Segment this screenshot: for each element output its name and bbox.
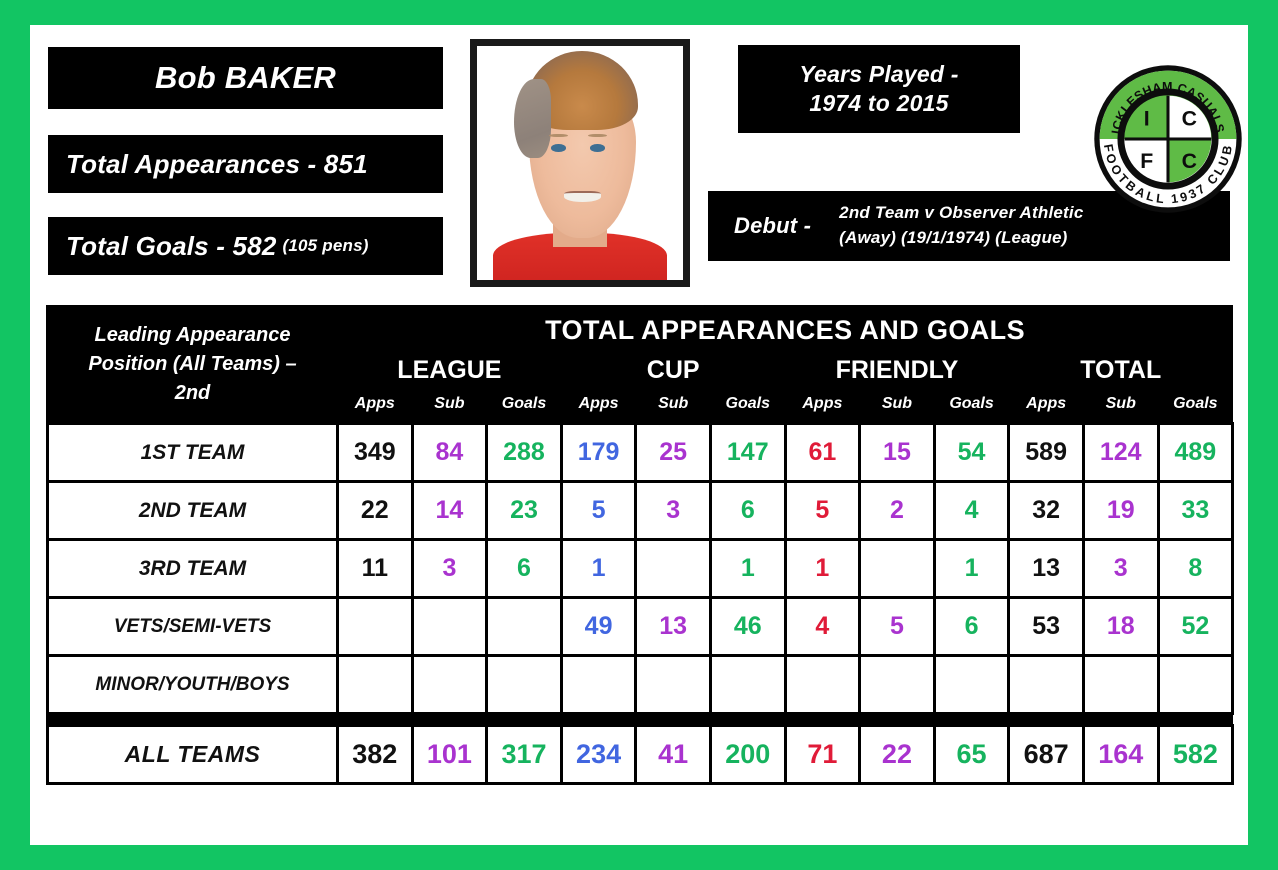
stat-cell: 288 — [487, 424, 562, 482]
stat-cell — [860, 656, 935, 714]
team-name-cell: 3RD TEAM — [48, 540, 338, 598]
years-played-line2: 1974 to 2015 — [809, 89, 948, 118]
stat-cell: 71 — [785, 726, 860, 784]
group-header-friendly: FRIENDLY — [785, 350, 1009, 389]
stat-cell: 4 — [934, 482, 1009, 540]
badge-letter-f: F — [1140, 149, 1153, 173]
stats-table-container: Leading Appearance Position (All Teams) … — [46, 305, 1232, 785]
stat-cell: 101 — [412, 726, 487, 784]
team-name-cell: VETS/SEMI-VETS — [48, 598, 338, 656]
stat-cell: 164 — [1083, 726, 1158, 784]
table-separator — [48, 714, 1233, 726]
stat-cell: 25 — [636, 424, 711, 482]
group-header-league: LEAGUE — [338, 350, 562, 389]
subheader-league-sub: Sub — [412, 389, 487, 424]
leading-position-line1: Leading Appearance — [54, 321, 332, 350]
stat-cell — [710, 656, 785, 714]
stat-cell — [338, 656, 413, 714]
stat-cell: 1 — [561, 540, 636, 598]
player-name: Bob BAKER — [155, 60, 336, 96]
stat-cell: 147 — [710, 424, 785, 482]
photo-eye-left — [551, 144, 565, 151]
stat-cell: 6 — [487, 540, 562, 598]
stat-cell: 6 — [710, 482, 785, 540]
team-name-cell: 2ND TEAM — [48, 482, 338, 540]
table-total-row: ALL TEAMS3821013172344120071226568716458… — [48, 726, 1233, 784]
stat-cell — [1009, 656, 1084, 714]
stat-cell: 49 — [561, 598, 636, 656]
photo-hair-left — [514, 79, 551, 159]
stat-cell: 1 — [785, 540, 860, 598]
stat-cell: 317 — [487, 726, 562, 784]
total-goals-box: Total Goals - 582 (105 pens) — [48, 217, 443, 275]
stat-cell: 5 — [860, 598, 935, 656]
player-stats-card: Bob BAKER Total Appearances - 851 Total … — [30, 25, 1248, 845]
subheader-cup-sub: Sub — [636, 389, 711, 424]
stat-cell: 582 — [1158, 726, 1233, 784]
table-row: 2ND TEAM221423536524321933 — [48, 482, 1233, 540]
stats-table: Leading Appearance Position (All Teams) … — [46, 305, 1234, 785]
subheader-friendly-sub: Sub — [860, 389, 935, 424]
header-row-title: Leading Appearance Position (All Teams) … — [48, 305, 1233, 350]
badge-letter-c1: C — [1182, 106, 1197, 130]
years-played-line1: Years Played - — [799, 60, 958, 89]
stat-cell: 32 — [1009, 482, 1084, 540]
subheader-league-goals: Goals — [487, 389, 562, 424]
stat-cell: 8 — [1158, 540, 1233, 598]
group-header-total: TOTAL — [1009, 350, 1233, 389]
total-goals-pens: (105 pens) — [283, 236, 369, 256]
team-name-cell: MINOR/YOUTH/BOYS — [48, 656, 338, 714]
stat-cell: 4 — [785, 598, 860, 656]
stat-cell — [487, 656, 562, 714]
stat-cell: 65 — [934, 726, 1009, 784]
subheader-total-goals: Goals — [1158, 389, 1233, 424]
stat-cell: 53 — [1009, 598, 1084, 656]
stat-cell: 15 — [860, 424, 935, 482]
stat-cell — [785, 656, 860, 714]
photo-mouth — [564, 191, 601, 202]
stat-cell — [934, 656, 1009, 714]
stats-table-head: Leading Appearance Position (All Teams) … — [48, 305, 1233, 424]
stat-cell: 54 — [934, 424, 1009, 482]
stat-cell: 687 — [1009, 726, 1084, 784]
photo-eye-right — [590, 144, 604, 151]
total-appearances-text: Total Appearances - 851 — [66, 149, 368, 180]
group-header-cup: CUP — [561, 350, 785, 389]
subheader-cup-goals: Goals — [710, 389, 785, 424]
stat-cell — [561, 656, 636, 714]
stat-cell: 23 — [487, 482, 562, 540]
stat-cell: 11 — [338, 540, 413, 598]
stat-cell: 41 — [636, 726, 711, 784]
stat-cell: 46 — [710, 598, 785, 656]
player-name-box: Bob BAKER — [48, 47, 443, 109]
badge-letter-i: I — [1144, 106, 1150, 130]
team-name-cell: 1ST TEAM — [48, 424, 338, 482]
stat-cell: 200 — [710, 726, 785, 784]
table-row: 3RD TEAM113611111338 — [48, 540, 1233, 598]
stat-cell — [338, 598, 413, 656]
stat-cell — [636, 656, 711, 714]
stat-cell: 18 — [1083, 598, 1158, 656]
stat-cell: 3 — [412, 540, 487, 598]
player-photo-frame — [470, 39, 690, 287]
stat-cell: 13 — [636, 598, 711, 656]
table-row: VETS/SEMI-VETS491346456531852 — [48, 598, 1233, 656]
stat-cell: 124 — [1083, 424, 1158, 482]
stat-cell: 22 — [860, 726, 935, 784]
subheader-cup-apps: Apps — [561, 389, 636, 424]
table-separator-cell — [48, 714, 1233, 726]
header-section: Bob BAKER Total Appearances - 851 Total … — [30, 25, 1248, 297]
subheader-friendly-goals: Goals — [934, 389, 1009, 424]
stat-cell: 6 — [934, 598, 1009, 656]
stat-cell: 2 — [860, 482, 935, 540]
stat-cell: 1 — [710, 540, 785, 598]
debut-line1: 2nd Team v Observer Athletic — [839, 201, 1083, 226]
photo-hair-right — [609, 74, 646, 158]
leading-position-cell: Leading Appearance Position (All Teams) … — [48, 305, 338, 424]
subheader-total-apps: Apps — [1009, 389, 1084, 424]
subheader-friendly-apps: Apps — [785, 389, 860, 424]
stat-cell: 22 — [338, 482, 413, 540]
stat-cell — [412, 598, 487, 656]
total-appearances-box: Total Appearances - 851 — [48, 135, 443, 193]
stat-cell: 13 — [1009, 540, 1084, 598]
team-name-cell: ALL TEAMS — [48, 726, 338, 784]
table-row: MINOR/YOUTH/BOYS — [48, 656, 1233, 714]
stat-cell: 52 — [1158, 598, 1233, 656]
stat-cell: 179 — [561, 424, 636, 482]
leading-position-line2: Position (All Teams) – — [54, 350, 332, 379]
stat-cell: 589 — [1009, 424, 1084, 482]
badge-letter-c2: C — [1182, 149, 1197, 173]
stat-cell — [1083, 656, 1158, 714]
stat-cell: 349 — [338, 424, 413, 482]
stat-cell — [636, 540, 711, 598]
stat-cell — [860, 540, 935, 598]
years-played-box: Years Played - 1974 to 2015 — [738, 45, 1020, 133]
stat-cell: 382 — [338, 726, 413, 784]
leading-position-line3: 2nd — [54, 379, 332, 408]
debut-label: Debut - — [708, 213, 811, 239]
stat-cell — [487, 598, 562, 656]
table-row: 1ST TEAM3498428817925147611554589124489 — [48, 424, 1233, 482]
stat-cell: 3 — [636, 482, 711, 540]
debut-detail: 2nd Team v Observer Athletic (Away) (19/… — [839, 201, 1083, 250]
stat-cell: 489 — [1158, 424, 1233, 482]
table-main-title: TOTAL APPEARANCES AND GOALS — [338, 305, 1233, 350]
club-badge-icon: I C F C ICKLESHAM CASUALS FOOTBALL 1937 … — [1092, 63, 1244, 215]
debut-line2: (Away) (19/1/1974) (League) — [839, 226, 1083, 251]
stat-cell: 234 — [561, 726, 636, 784]
stat-cell: 14 — [412, 482, 487, 540]
stat-cell: 19 — [1083, 482, 1158, 540]
stat-cell: 1 — [934, 540, 1009, 598]
total-goals-text: Total Goals - 582 — [66, 231, 277, 262]
stats-table-body: 1ST TEAM34984288179251476115545891244892… — [48, 424, 1233, 784]
stat-cell: 61 — [785, 424, 860, 482]
stat-cell: 3 — [1083, 540, 1158, 598]
stat-cell — [412, 656, 487, 714]
player-photo — [477, 46, 683, 280]
stat-cell: 84 — [412, 424, 487, 482]
subheader-total-sub: Sub — [1083, 389, 1158, 424]
subheader-league-apps: Apps — [338, 389, 413, 424]
stat-cell: 5 — [561, 482, 636, 540]
stat-cell: 33 — [1158, 482, 1233, 540]
stat-cell: 5 — [785, 482, 860, 540]
stat-cell — [1158, 656, 1233, 714]
